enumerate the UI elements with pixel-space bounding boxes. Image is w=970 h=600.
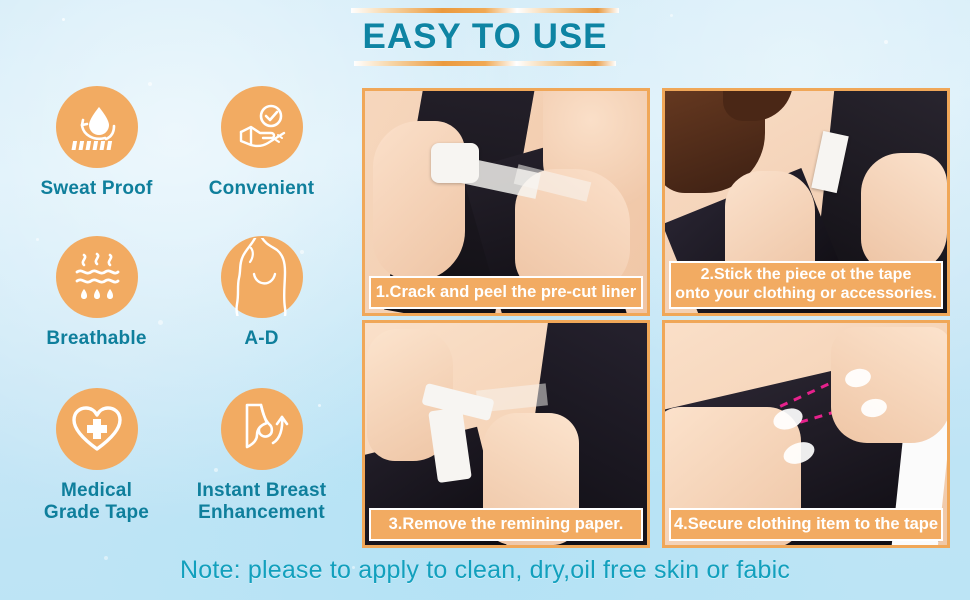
feature-icon-badge (221, 388, 303, 470)
feature-label: Breathable (14, 328, 179, 350)
feature-label: A-D (179, 328, 344, 350)
feature-icon-badge (56, 388, 138, 470)
step-caption-3: 3.Remove the remining paper. (369, 508, 643, 541)
steps-grid: 1.Crack and peel the pre-cut liner 2.Sti… (362, 88, 950, 543)
step-panel-2: 2.Stick the piece ot the tape onto your … (662, 88, 950, 316)
feature-label-line2: Enhancement (198, 502, 325, 523)
female-torso-icon (227, 238, 297, 316)
feature-label: Instant Breast Enhancement (179, 480, 344, 524)
feature-label-line1: Medical (61, 480, 132, 501)
step-caption-2: 2.Stick the piece ot the tape onto your … (669, 261, 943, 309)
step-caption-4: 4.Secure clothing item to the tape (669, 508, 943, 541)
heart-medical-cross-icon (69, 404, 125, 454)
feature-item-medical-grade-tape: Medical Grade Tape (14, 388, 179, 538)
water-drop-repel-icon (69, 102, 125, 152)
feature-label: Sweat Proof (14, 178, 179, 200)
title-rule-top (351, 8, 619, 13)
step-caption-2-line2: onto your clothing or accessories. (675, 285, 936, 302)
step-caption-1: 1.Crack and peel the pre-cut liner (369, 276, 643, 309)
feature-icon-badge (56, 86, 138, 168)
breast-lift-arrow-icon (233, 401, 291, 457)
step-panel-3: 3.Remove the remining paper. (362, 320, 650, 548)
feature-label: Convenient (179, 178, 344, 200)
page-title: EASY TO USE (335, 19, 635, 56)
footer-note: Note: please to apply to clean, dry,oil … (0, 556, 970, 585)
feature-icon-badge (221, 236, 303, 318)
feature-label-line1: Instant Breast (197, 480, 327, 501)
feature-label: Medical Grade Tape (14, 480, 179, 524)
title-rule-bottom (354, 61, 616, 66)
promo-banner: EASY TO USE (0, 0, 970, 600)
feature-item-sweat-proof: Sweat Proof (14, 86, 179, 236)
feature-icon-badge (221, 86, 303, 168)
feature-item-instant-breast-enhancement: Instant Breast Enhancement (179, 388, 344, 538)
feature-item-breathable: Breathable (14, 236, 179, 388)
breathable-waves-icon (69, 251, 125, 303)
step-panel-1: 1.Crack and peel the pre-cut liner (362, 88, 650, 316)
hand-check-icon (234, 102, 290, 152)
feature-icon-badge (56, 236, 138, 318)
sparkle-dot (670, 14, 673, 17)
sparkle-dot (62, 18, 65, 21)
feature-item-cup-size-range: A-D (179, 236, 344, 388)
step-caption-2-line1: 2.Stick the piece ot the tape (701, 266, 912, 283)
sparkle-dot (884, 40, 888, 44)
header: EASY TO USE (335, 8, 635, 66)
feature-list: Sweat Proof Convenient (14, 86, 344, 538)
feature-item-convenient: Convenient (179, 86, 344, 236)
step-panel-4: 4.Secure clothing item to the tape (662, 320, 950, 548)
feature-label-line2: Grade Tape (44, 502, 149, 523)
